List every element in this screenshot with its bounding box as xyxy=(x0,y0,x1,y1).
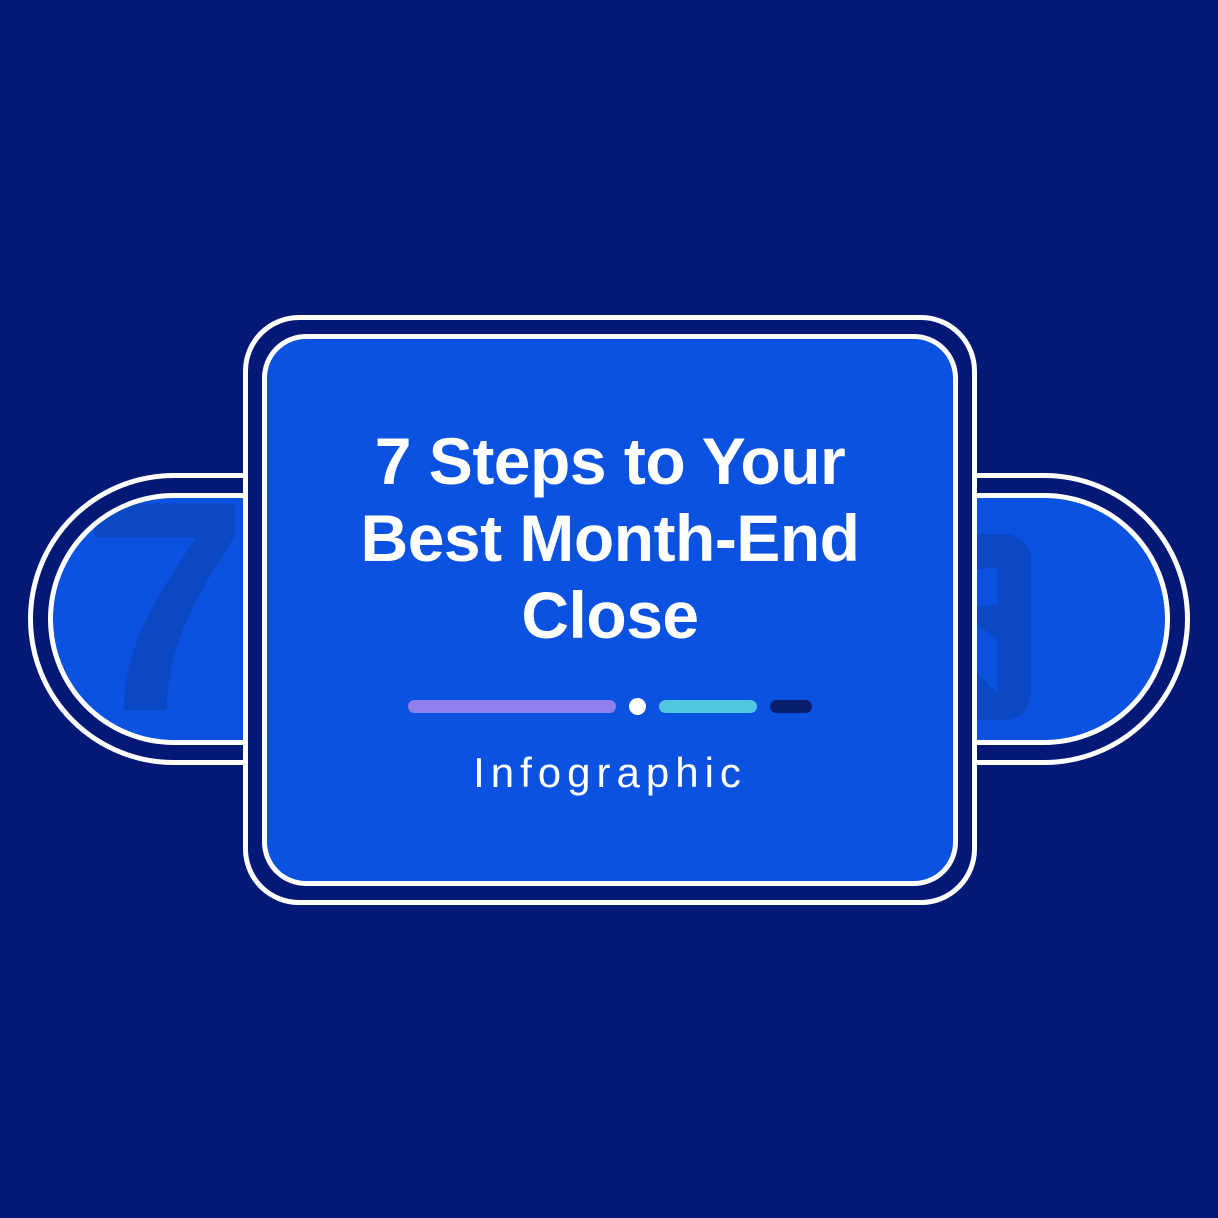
divider-bar-purple xyxy=(408,700,616,713)
decorative-divider xyxy=(408,698,812,715)
content-type-label: Infographic xyxy=(473,749,747,797)
divider-bar-cyan xyxy=(659,700,757,713)
infographic-cover: 7 7 Steps to Your Best Month-End Close I… xyxy=(0,0,1218,1218)
title-card: 7 Steps to Your Best Month-End Close Inf… xyxy=(243,315,977,905)
watermark-seven-glyph: 7 xyxy=(81,493,240,745)
page-title: 7 Steps to Your Best Month-End Close xyxy=(276,423,944,655)
divider-dot-white xyxy=(629,698,646,715)
divider-bar-navy xyxy=(770,700,812,713)
title-card-body: 7 Steps to Your Best Month-End Close Inf… xyxy=(262,334,958,886)
